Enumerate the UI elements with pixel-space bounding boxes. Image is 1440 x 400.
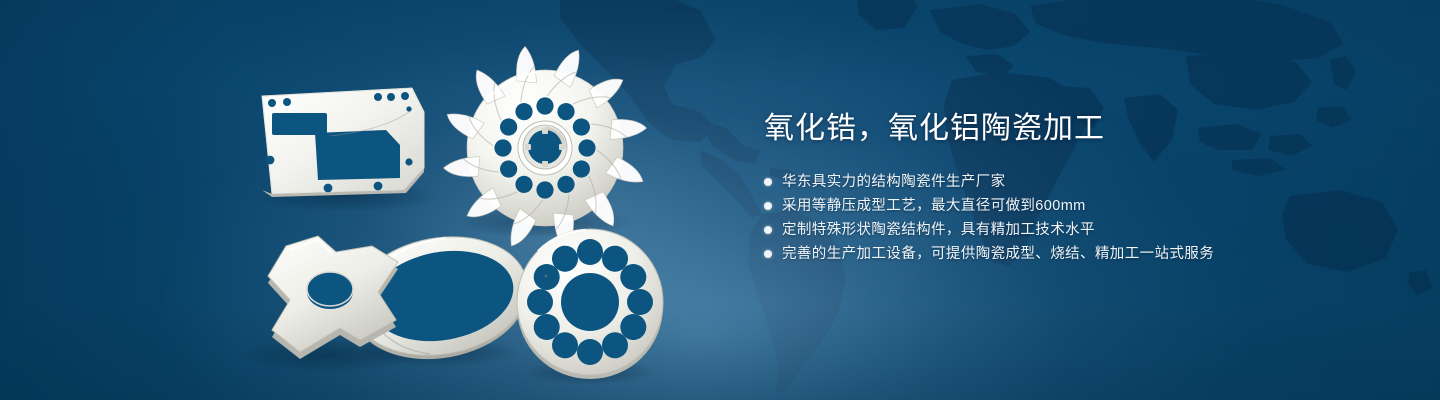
- banner-text-block: 氧化锆，氧化铝陶瓷加工 华东具实力的结构陶瓷件生产厂家 采用等静压成型工艺，最大…: [764, 108, 1404, 266]
- hero-banner: 氧化锆，氧化铝陶瓷加工 华东具实力的结构陶瓷件生产厂家 采用等静压成型工艺，最大…: [0, 0, 1440, 400]
- list-item: 采用等静压成型工艺，最大直径可做到600mm: [764, 194, 1404, 218]
- list-item: 华东具实力的结构陶瓷件生产厂家: [764, 170, 1404, 194]
- list-item-label: 采用等静压成型工艺，最大直径可做到600mm: [782, 194, 1086, 218]
- bullet-dot-icon: [764, 226, 772, 234]
- product-photo-group: [0, 0, 720, 400]
- bullet-dot-icon: [764, 202, 772, 210]
- feature-list: 华东具实力的结构陶瓷件生产厂家 采用等静压成型工艺，最大直径可做到600mm 定…: [764, 170, 1404, 266]
- ceramic-machined-plate: [262, 88, 424, 197]
- bullet-dot-icon: [764, 250, 772, 258]
- page-title: 氧化锆，氧化铝陶瓷加工: [764, 108, 1404, 150]
- list-item-label: 完善的生产加工设备，可提供陶瓷成型、烧结、精加工一站式服务: [782, 242, 1214, 266]
- list-item-label: 定制特殊形状陶瓷结构件，具有精加工技术水平: [782, 218, 1095, 242]
- list-item: 定制特殊形状陶瓷结构件，具有精加工技术水平: [764, 218, 1404, 242]
- list-item-label: 华东具实力的结构陶瓷件生产厂家: [782, 170, 1006, 194]
- ceramic-hole-disc: [517, 229, 663, 379]
- bullet-dot-icon: [764, 178, 772, 186]
- list-item: 完善的生产加工设备，可提供陶瓷成型、烧结、精加工一站式服务: [764, 242, 1404, 266]
